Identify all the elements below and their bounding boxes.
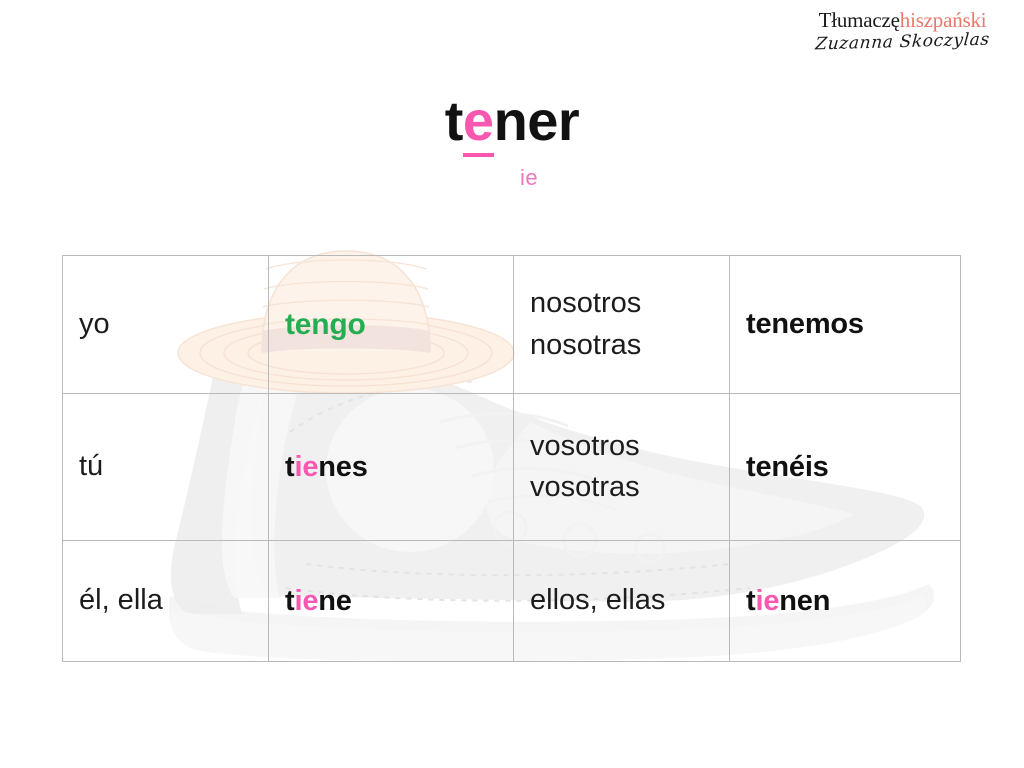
cell-pronoun-plural: vosotros vosotras xyxy=(514,394,730,541)
verb-prefix: t xyxy=(445,89,463,152)
pronoun-line: ellos, ellas xyxy=(530,580,713,621)
form-pre: tenéis xyxy=(746,451,829,483)
cell-pronoun-plural: ellos, ellas xyxy=(514,541,730,662)
pronoun-singular: él, ella xyxy=(79,580,252,621)
pronoun-singular: yo xyxy=(79,304,252,345)
cell-form-singular: tienes xyxy=(269,394,514,541)
verb-suffix: ner xyxy=(494,89,580,152)
table-row: él, ella tiene ellos, ellas tienen xyxy=(63,541,961,662)
logo-word-es: hiszpański xyxy=(900,8,987,32)
pronoun-line: vosotros xyxy=(530,426,713,467)
form-highlight: ie xyxy=(294,451,318,483)
conjugation-table-body: yo tengo nosotros nosotras tenemos xyxy=(63,256,961,662)
verb-form-singular: tienes xyxy=(285,451,497,484)
logo-signature: Zuzanna Skoczylas xyxy=(794,31,1011,54)
pronoun-line: vosotras xyxy=(530,467,713,508)
pronoun-line: nosotros xyxy=(530,283,713,324)
pronoun-plural: ellos, ellas xyxy=(530,580,713,621)
cell-pronoun-plural: nosotros nosotras xyxy=(514,256,730,394)
cell-form-plural: tenéis xyxy=(730,394,961,541)
form-pre: tenemos xyxy=(746,308,864,340)
page-title: tener xyxy=(445,92,579,151)
verb-form-plural: tenéis xyxy=(746,451,944,484)
cell-form-plural: tenemos xyxy=(730,256,961,394)
form-pre: tengo xyxy=(285,308,366,341)
logo-wordmark: Tłumaczęhiszpański xyxy=(795,10,1010,31)
table-row: yo tengo nosotros nosotras tenemos xyxy=(63,256,961,394)
brand-logo: Tłumaczęhiszpański Zuzanna Skoczylas xyxy=(795,10,1010,51)
pronoun-plural: nosotros nosotras xyxy=(530,283,713,365)
slide-canvas: Tłumaczęhiszpański Zuzanna Skoczylas ten… xyxy=(0,0,1024,768)
verb-form-singular: tiene xyxy=(285,585,497,618)
cell-pronoun-singular: él, ella xyxy=(63,541,269,662)
conjugation-table: yo tengo nosotros nosotras tenemos xyxy=(62,255,961,662)
pronoun-singular: tú xyxy=(79,446,252,487)
table-row: tú tienes vosotros vosotras tenéis xyxy=(63,394,961,541)
pronoun-line: nosotras xyxy=(530,325,713,366)
pronoun-line: él, ella xyxy=(79,580,252,621)
verb-form-plural: tenemos xyxy=(746,308,944,341)
form-post: nen xyxy=(779,585,830,617)
verb-form-plural: tienen xyxy=(746,585,944,618)
form-highlight: ie xyxy=(294,585,318,617)
verb-stem-vowel: e xyxy=(463,89,494,157)
form-post: ne xyxy=(318,585,351,617)
cell-pronoun-singular: tú xyxy=(63,394,269,541)
verb-form-singular: tengo xyxy=(285,308,497,342)
form-post: nes xyxy=(318,451,367,483)
cell-pronoun-singular: yo xyxy=(63,256,269,394)
cell-form-singular: tiene xyxy=(269,541,514,662)
pronoun-line: tú xyxy=(79,446,252,487)
form-highlight: ie xyxy=(755,585,779,617)
cell-form-plural: tienen xyxy=(730,541,961,662)
pronoun-plural: vosotros vosotras xyxy=(530,426,713,508)
logo-word-pl: Tłumaczę xyxy=(819,8,900,32)
title-block: tener ie xyxy=(0,92,1024,191)
cell-form-singular: tengo xyxy=(269,256,514,394)
pronoun-line: yo xyxy=(79,304,252,345)
stem-change-note: ie xyxy=(0,165,1024,191)
